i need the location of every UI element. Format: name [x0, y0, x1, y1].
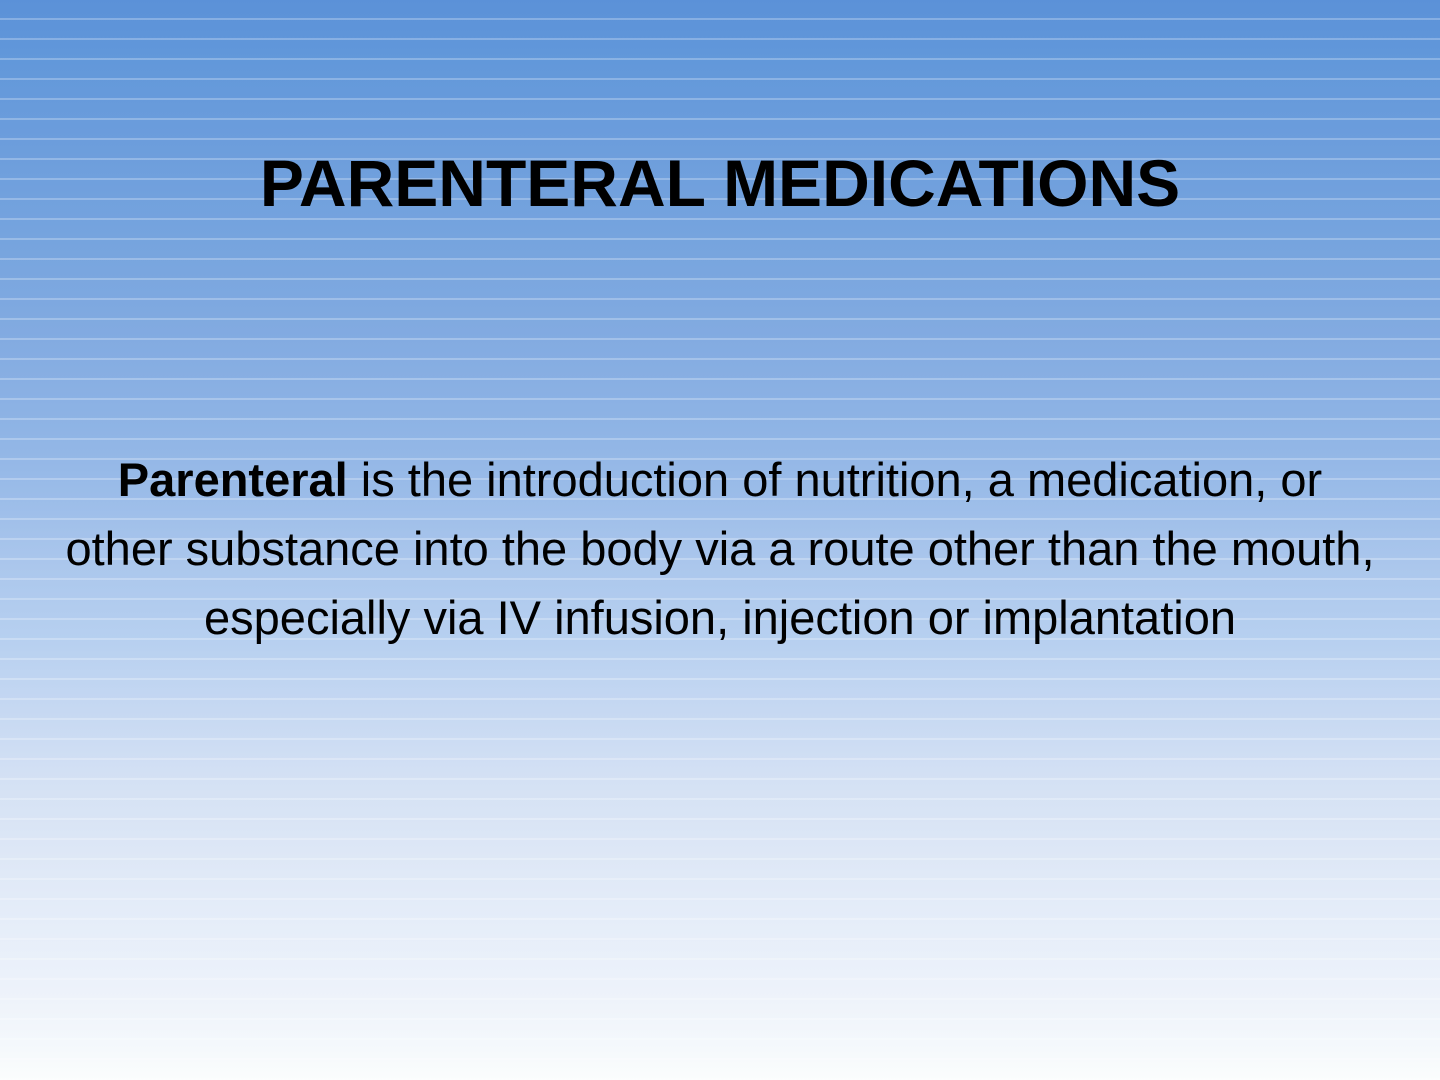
slide-title: PARENTERAL MEDICATIONS: [0, 148, 1440, 219]
slide-body-text: Parenteral is the introduction of nutrit…: [62, 445, 1378, 652]
presentation-slide: PARENTERAL MEDICATIONS Parenteral is the…: [0, 0, 1440, 1080]
slide-content-area: PARENTERAL MEDICATIONS Parenteral is the…: [0, 0, 1440, 1080]
body-lead-term: Parenteral: [118, 453, 348, 506]
